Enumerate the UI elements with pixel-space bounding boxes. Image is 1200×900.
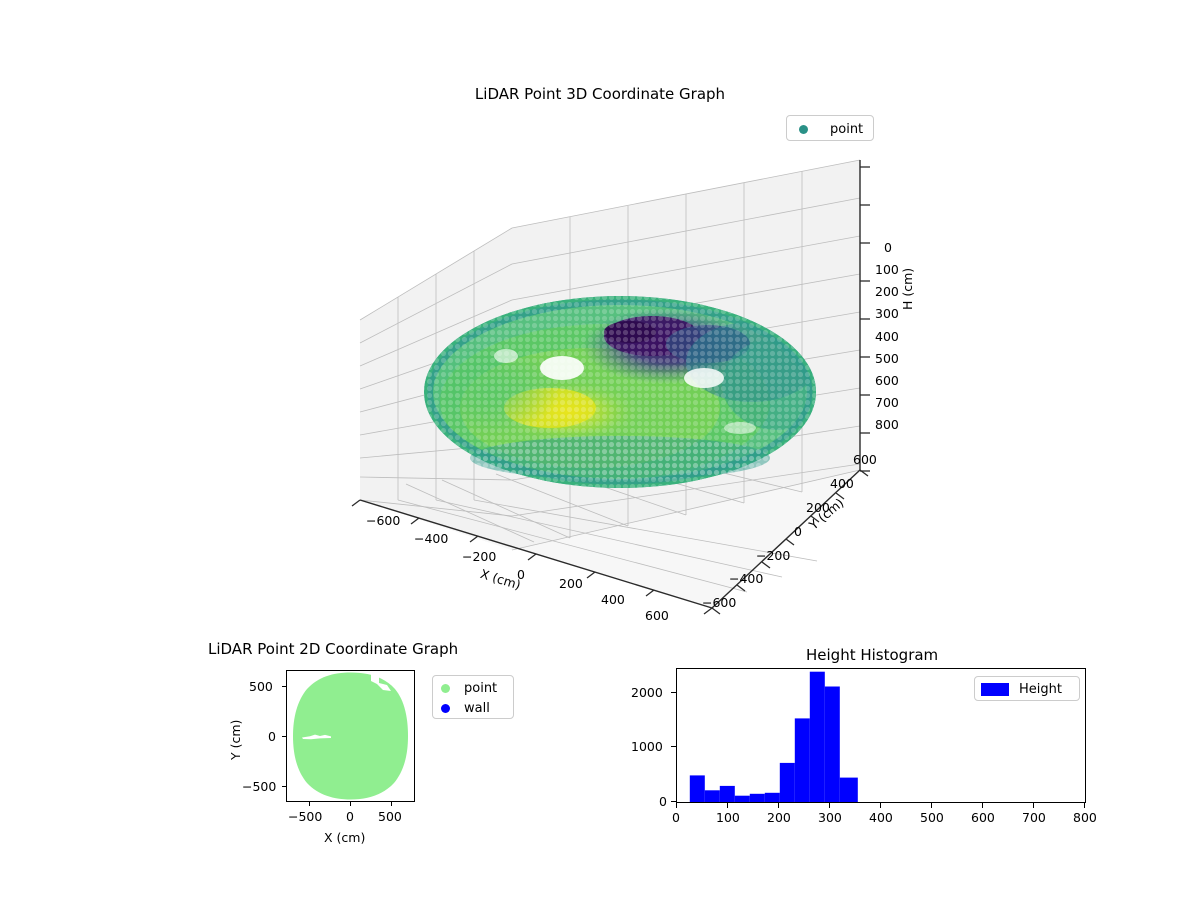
legend-item-wall-2d[interactable]: wall [433,698,513,718]
lidar-2d-axes[interactable] [286,670,415,802]
legend-label-wall: wall [464,701,490,716]
z-tick-300: 300 [875,306,899,321]
height-patch-icon [981,683,1009,696]
panelhist-legend[interactable]: Height [974,676,1080,701]
matplotlib-figure: LiDAR Point 3D Coordinate Graph point [0,0,1200,900]
y-tick--400: −400 [729,571,763,586]
histogram-bars [690,672,858,802]
y-tick-600: 600 [853,452,877,467]
xhist-label-700: 700 [1022,810,1046,825]
y-tick--200: −200 [756,548,790,563]
legend-label-point: point [830,122,863,137]
xhist-label-100: 100 [716,810,740,825]
lidar-3d-canvas [300,140,940,640]
xhist-tick-300 [829,803,830,808]
yhist-label-2000: 2000 [631,685,663,700]
xhist-tick-600 [982,803,983,808]
legend-item-point-2d[interactable]: point [433,678,513,698]
point-marker-icon [799,125,808,134]
xhist-tick-800 [1084,803,1085,808]
xhist-tick-500 [931,803,932,808]
xhist-label-300: 300 [818,810,842,825]
x2d-label--500: −500 [288,809,322,824]
z-axis-label: H (cm) [900,268,915,310]
x-tick-600: 600 [645,608,669,623]
panel3d-title: LiDAR Point 3D Coordinate Graph [0,85,1200,103]
xhist-tick-200 [778,803,779,808]
xhist-label-800: 800 [1073,810,1097,825]
y-tick-400: 400 [830,476,854,491]
panel3d-legend[interactable]: point [786,115,874,141]
panel2d-ylabel: Y (cm) [228,720,243,760]
xhist-label-400: 400 [869,810,893,825]
xhist-label-600: 600 [971,810,995,825]
yhist-label-0: 0 [659,794,667,809]
legend-item-height[interactable]: Height [975,677,1079,702]
y2d-tick--500 [282,786,286,787]
yhist-label-1000: 1000 [631,739,663,754]
point-disk [293,673,408,800]
lidar-3d-axes[interactable] [300,140,940,640]
z-tick-400: 400 [875,329,899,344]
y2d-label-0: 0 [268,729,276,744]
z-tick-500: 500 [875,351,899,366]
yhist-tick-2000 [671,692,676,693]
x2d-tick--500 [309,802,310,806]
yhist-tick-1000 [671,746,676,747]
z-tick-0: 0 [884,240,892,255]
y2d-label--500: −500 [242,779,276,794]
panelhist-title: Height Histogram [806,646,938,664]
y2d-label-500: 500 [249,679,273,694]
y-tick-0: 0 [794,524,802,539]
z-tick-200: 200 [875,284,899,299]
x-tick-400: 400 [601,592,625,607]
lidar-2d-canvas [287,671,414,801]
x2d-label-500: 500 [378,809,402,824]
xhist-tick-400 [880,803,881,808]
xhist-tick-0 [676,803,677,808]
panel2d-legend[interactable]: point wall [432,675,514,719]
point-marker-icon [441,684,450,693]
y2d-tick-0 [282,736,286,737]
x-tick-200: 200 [559,576,583,591]
x2d-tick-0 [350,802,351,806]
x2d-tick-500 [391,802,392,806]
xhist-label-0: 0 [672,810,680,825]
wall-marker-icon [441,704,450,713]
panel2d-title: LiDAR Point 2D Coordinate Graph [208,640,458,658]
panel2d-xlabel: X (cm) [324,830,365,845]
legend-item-point[interactable]: point [787,116,873,142]
y2d-tick-500 [282,686,286,687]
xhist-tick-100 [727,803,728,808]
point-cloud-rim [470,436,770,480]
z-tick-100: 100 [875,262,899,277]
x-tick--600: −600 [366,513,400,528]
z-tick-800: 800 [875,417,899,432]
z-tick-600: 600 [875,373,899,388]
xhist-tick-700 [1033,803,1034,808]
x-tick--200: −200 [462,549,496,564]
x2d-label-0: 0 [346,809,354,824]
z-tick-700: 700 [875,395,899,410]
x-tick--400: −400 [414,531,448,546]
xhist-label-500: 500 [920,810,944,825]
legend-label-height: Height [1019,682,1062,697]
xhist-label-200: 200 [767,810,791,825]
legend-label-point: point [464,681,497,696]
yhist-tick-0 [671,801,676,802]
y-tick--600: −600 [702,595,736,610]
